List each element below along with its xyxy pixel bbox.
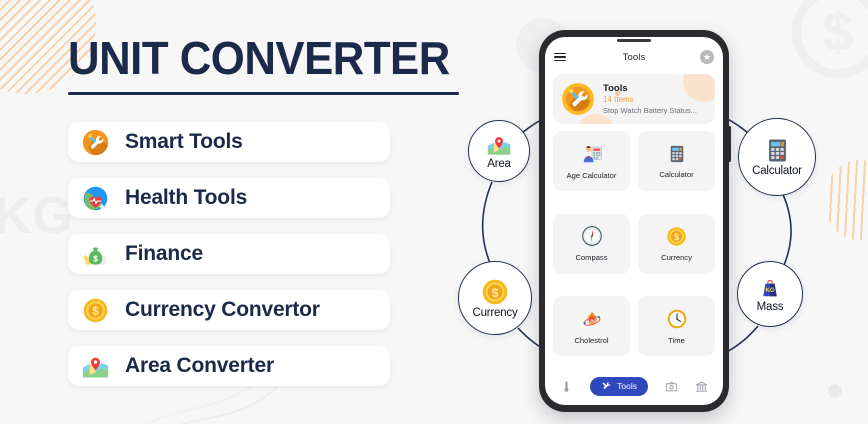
grid-item-calculator[interactable]: Calculator [638, 131, 715, 191]
feature-label: Finance [125, 242, 203, 266]
tools-card-text: Tools 14 Items Stop Watch Battery Status… [603, 83, 697, 115]
money-bag-icon: $ [82, 241, 109, 268]
feature-item-health-tools[interactable]: Health Tools [68, 178, 390, 218]
svg-text:$: $ [92, 304, 99, 318]
feature-label: Health Tools [125, 186, 247, 210]
feature-item-currency-convertor[interactable]: $ Currency Convertor [68, 290, 390, 330]
grid-item-label: Cholestrol [574, 336, 608, 345]
orbit-bubble-area[interactable]: Area [468, 120, 530, 182]
svg-text:$: $ [492, 285, 499, 299]
grid-item-time[interactable]: Time [638, 296, 715, 356]
phone-screen: Tools ★ Tools 14 Items Stop Watch Batter… [545, 37, 723, 405]
orbit-bubble-label: Currency [472, 307, 517, 319]
grid-item-cholestrol[interactable]: LDL Cholestrol [553, 296, 630, 356]
tools-card-title: Tools [603, 83, 697, 94]
tools-icon [601, 381, 612, 392]
grid-item-age-calculator[interactable]: Age Calculator [553, 131, 630, 191]
orbit-bubble-currency[interactable]: $ Currency [458, 261, 532, 335]
grid-item-label: Age Calculator [567, 171, 617, 180]
tools-header-card[interactable]: Tools 14 Items Stop Watch Battery Status… [553, 74, 715, 124]
svg-text:$: $ [674, 232, 679, 242]
age-calculator-icon [581, 143, 603, 165]
phone-mockup: Tools ★ Tools 14 Items Stop Watch Batter… [539, 30, 729, 412]
dollar-coin-icon: $ [666, 226, 687, 247]
dollar-coin-icon: $ [82, 297, 109, 324]
app-bar: Tools ★ [545, 43, 723, 71]
nav-item-tools[interactable]: Tools [590, 377, 648, 396]
tools-card-subtitle: Stop Watch Battery Status... [603, 106, 697, 115]
orbit-bubble-label: Mass [757, 301, 784, 313]
orbit-bubble-label: Calculator [752, 165, 802, 177]
tools-icon [82, 129, 109, 156]
dollar-coin-icon: $ [481, 278, 509, 306]
grid-item-currency[interactable]: $ Currency [638, 214, 715, 274]
striped-arc-decoration [824, 160, 868, 240]
feature-item-area-converter[interactable]: Area Converter [68, 346, 390, 386]
svg-text:KG: KG [766, 287, 775, 293]
orbit-bubble-label: Area [487, 158, 511, 170]
map-pin-icon [487, 133, 511, 157]
page-title: UNIT CONVERTER [68, 34, 448, 82]
tools-grid: Age Calculator Calculator [545, 124, 723, 371]
phone-speaker [617, 39, 651, 42]
title-underline [68, 92, 459, 95]
bank-icon[interactable] [695, 380, 708, 393]
feature-item-finance[interactable]: $ Finance [68, 234, 390, 274]
dollar-watermark-icon: $ [792, 0, 868, 78]
kg-weight-icon: KG [758, 276, 782, 300]
app-bar-title: Tools [545, 52, 723, 63]
compass-icon [581, 225, 603, 247]
orbit-bubble-calculator[interactable]: Calculator [738, 118, 816, 196]
kg-watermark-text: KG [0, 186, 74, 246]
calculator-icon [667, 144, 687, 164]
map-pin-icon [82, 353, 109, 380]
bottom-nav: Tools [545, 371, 723, 405]
grid-item-label: Time [668, 336, 685, 345]
camera-icon[interactable] [665, 380, 678, 393]
thermometer-icon[interactable] [560, 380, 573, 393]
feature-label: Currency Convertor [125, 298, 320, 322]
feature-label: Smart Tools [125, 130, 243, 154]
feature-item-smart-tools[interactable]: Smart Tools [68, 122, 390, 162]
grid-item-label: Compass [575, 253, 607, 262]
feature-list: Smart Tools Health Tools $ Finance [68, 122, 468, 386]
orbit-bubble-mass[interactable]: KG Mass [737, 261, 803, 327]
grey-dot-decoration [828, 384, 842, 398]
feature-label: Area Converter [125, 354, 274, 378]
calculator-icon [764, 137, 791, 164]
grid-item-compass[interactable]: Compass [553, 214, 630, 274]
nav-item-label: Tools [617, 381, 637, 391]
grid-item-label: Currency [661, 253, 692, 262]
hero-section: UNIT CONVERTER Smart Tools Health Tools [68, 34, 468, 402]
tools-card-count: 14 Items [603, 95, 697, 104]
svg-text:$: $ [93, 253, 98, 263]
cholesterol-icon: LDL [581, 308, 603, 330]
health-globe-icon [82, 185, 109, 212]
tools-icon [561, 82, 595, 116]
svg-text:LDL: LDL [588, 318, 596, 323]
grid-item-label: Calculator [659, 170, 693, 179]
clock-icon [666, 308, 688, 330]
